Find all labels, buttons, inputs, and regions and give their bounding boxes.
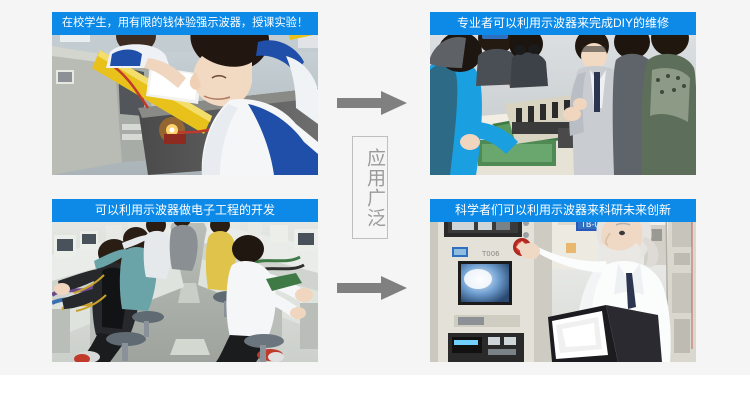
photo-scientist-equipment: T006 <box>430 199 696 362</box>
panel-research[interactable]: T006 <box>430 199 696 362</box>
arrow-top <box>337 91 407 115</box>
promo-banner: 在校学生，用有限的钱体验强示波器，授课实验！ <box>0 0 750 402</box>
application-scope-text: 应用广泛 <box>353 137 387 238</box>
application-scope-label: 应用广泛 <box>352 136 388 239</box>
svg-text:T006: T006 <box>481 250 500 258</box>
panel-caption: 可以利用示波器做电子工程的开发 <box>52 199 318 222</box>
panel-caption: 专业者可以利用示波器来完成DIY的维修 <box>430 12 696 35</box>
photo-students-lab <box>52 12 318 175</box>
arrow-bottom <box>337 276 407 300</box>
photo-electronics-lab <box>52 199 318 362</box>
panel-caption: 在校学生，用有限的钱体验强示波器，授课实验！ <box>52 12 318 35</box>
photo-engineers-workbench <box>430 12 696 175</box>
panel-students[interactable]: 在校学生，用有限的钱体验强示波器，授课实验！ <box>52 12 318 175</box>
panel-development[interactable]: 可以利用示波器做电子工程的开发 <box>52 199 318 362</box>
panel-caption: 科学者们可以利用示波器来科研未来创新 <box>430 199 696 222</box>
panel-professionals[interactable]: 专业者可以利用示波器来完成DIY的维修 <box>430 12 696 175</box>
